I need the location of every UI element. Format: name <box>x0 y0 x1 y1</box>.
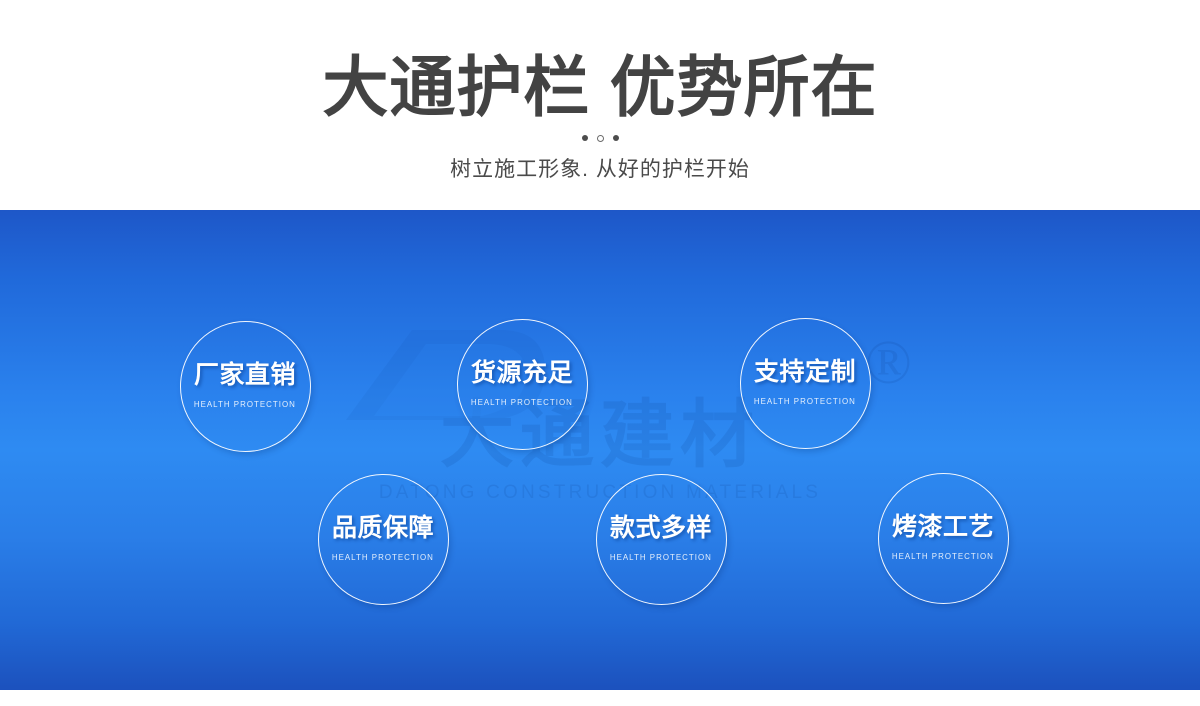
dot-filled-left <box>582 135 588 141</box>
dot-filled-right <box>613 135 619 141</box>
promo-banner: 大通护栏 优势所在 树立施工形象. 从好的护栏开始 ® 大通建材 DATONG … <box>0 0 1200 706</box>
advantage-title: 支持定制 <box>754 360 856 385</box>
advantage-title: 款式多样 <box>610 516 712 541</box>
advantage-subtitle: HEALTH PROTECTION <box>471 397 573 407</box>
advantage-subtitle: HEALTH PROTECTION <box>892 551 994 561</box>
advantage-subtitle: HEALTH PROTECTION <box>332 552 434 562</box>
page-subtitle: 树立施工形象. 从好的护栏开始 <box>450 153 750 183</box>
advantage-title: 货源充足 <box>471 361 573 386</box>
advantage-circle[interactable]: 厂家直销HEALTH PROTECTION <box>180 321 311 452</box>
separator-dots <box>582 132 619 144</box>
advantage-subtitle: HEALTH PROTECTION <box>194 399 296 409</box>
advantage-circle[interactable]: 货源充足HEALTH PROTECTION <box>457 319 588 450</box>
advantage-title: 烤漆工艺 <box>892 515 994 540</box>
advantage-title: 厂家直销 <box>194 363 296 388</box>
advantage-title: 品质保障 <box>332 516 434 541</box>
advantage-circle[interactable]: 款式多样HEALTH PROTECTION <box>596 474 727 605</box>
advantage-circle[interactable]: 支持定制HEALTH PROTECTION <box>740 318 871 449</box>
watermark-brand-en: DATONG CONSTRUCTION MATERIALS <box>379 482 821 504</box>
advantage-circle[interactable]: 烤漆工艺HEALTH PROTECTION <box>878 473 1009 604</box>
advantage-subtitle: HEALTH PROTECTION <box>754 396 856 406</box>
dot-hollow-center <box>597 135 604 142</box>
registered-mark-icon: ® <box>865 332 912 394</box>
header-section: 大通护栏 优势所在 树立施工形象. 从好的护栏开始 <box>0 0 1200 210</box>
advantage-subtitle: HEALTH PROTECTION <box>610 552 712 562</box>
advantages-panel: ® 大通建材 DATONG CONSTRUCTION MATERIALS 厂家直… <box>0 210 1200 690</box>
advantage-circle[interactable]: 品质保障HEALTH PROTECTION <box>318 474 449 605</box>
page-title: 大通护栏 优势所在 <box>322 52 877 123</box>
